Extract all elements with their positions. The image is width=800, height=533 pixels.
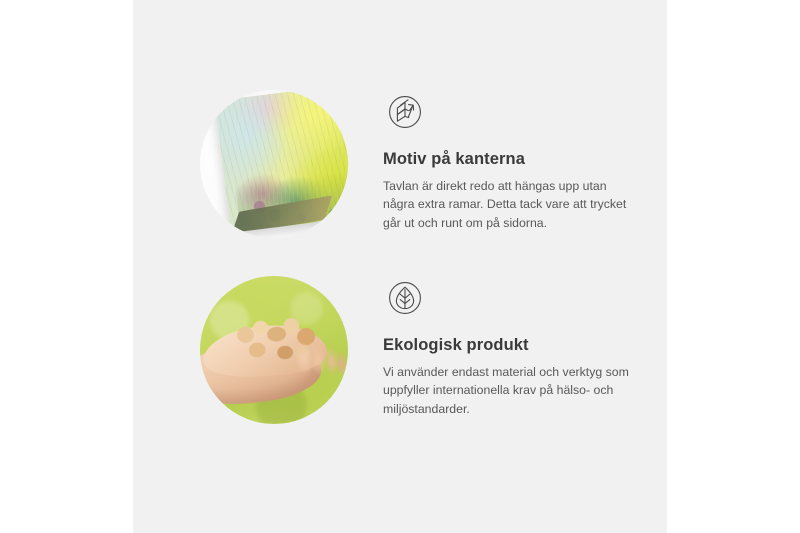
content-panel: Motiv på kanterna Tavlan är direkt redo … [133,0,667,533]
feature-description: Tavlan är direkt redo att hängas upp uta… [383,177,635,233]
eco-hands-scene [200,276,348,424]
canvas-wrapped-edges-icon [383,90,427,134]
feature-text-canvas-edges: Motiv på kanterna Tavlan är direkt redo … [383,90,663,233]
eco-hands-photo [200,276,348,424]
feature-description: Vi använder endast material och verktyg … [383,363,635,419]
hand-fingers [292,335,348,386]
feature-text-eco-product: Ekologisk produkt Vi använder endast mat… [383,276,663,419]
feature-title: Motiv på kanterna [383,150,663,170]
leaf-icon [383,276,427,320]
canvas-print-object [214,90,348,233]
product-feature-page: Motiv på kanterna Tavlan är direkt redo … [0,0,800,533]
canvas-print-scene [200,90,348,238]
feature-title: Ekologisk produkt [383,336,663,356]
canvas-print-photo [200,90,348,238]
